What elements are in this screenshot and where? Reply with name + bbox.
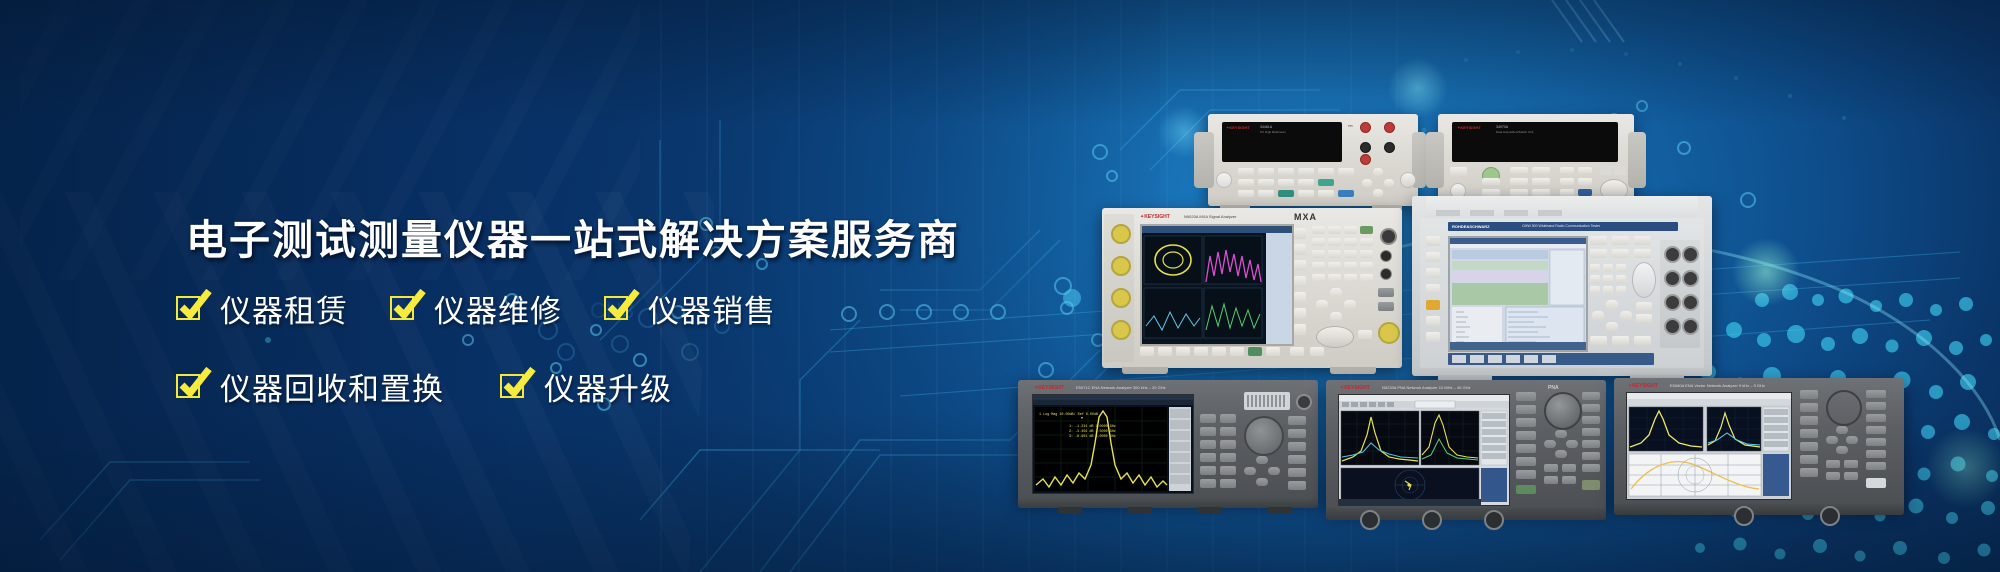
vna-center-screen xyxy=(1338,394,1510,506)
check-box-icon xyxy=(604,294,632,322)
check-box-icon xyxy=(176,372,204,400)
svg-text:1: -1.234 dB 1.0000 GHz: 1: -1.234 dB 1.0000 GHz xyxy=(1069,424,1116,429)
check-box-icon xyxy=(176,294,204,322)
instrument-power-supply: ✦KEYSIGHT 34970A Data Acquisition/Switch… xyxy=(1438,114,1634,206)
copy-block: 电子测试测量仪器一站式解决方案服务商 仪器租赁 仪器维修 xyxy=(0,0,1000,572)
service-label: 仪器回收和置换 xyxy=(220,364,444,409)
service-label: 仪器维修 xyxy=(434,286,562,331)
radio-tester-screen xyxy=(1448,236,1588,352)
service-label: 仪器升级 xyxy=(544,364,672,409)
service-label: 仪器租赁 xyxy=(220,286,348,331)
service-item-recycle-exchange[interactable]: 仪器回收和置换 xyxy=(176,364,444,409)
instrument-vna-right: ✦KEYSIGHT E5080A ENA Vector Network Anal… xyxy=(1614,378,1904,506)
service-list: 仪器租赁 仪器维修 仪器销售 xyxy=(176,280,776,414)
svg-text:1 Log Mag 10.00dB/ Ref 0.00dB: 1 Log Mag 10.00dB/ Ref 0.00dB xyxy=(1039,412,1098,417)
vna-right-screen xyxy=(1626,392,1792,500)
instrument-vna-center: ✦KEYSIGHT N5230A PNA Network Analyzer 10… xyxy=(1326,380,1606,510)
svg-text:2: -3.456 dB 2.5000 GHz: 2: -3.456 dB 2.5000 GHz xyxy=(1069,429,1116,434)
instrument-signal-analyzer: ✦KEYSIGHT N9020A MXA Signal Analyzer MXA xyxy=(1102,208,1402,368)
vna-left-screen: 1 Log Mag 10.00dB/ Ref 0.00dB ▼ 1: -1.23… xyxy=(1032,394,1194,494)
service-item-sales[interactable]: 仪器销售 xyxy=(604,286,776,331)
check-box-icon xyxy=(390,294,418,322)
promo-banner: CH3 xyxy=(0,0,2000,572)
page-title: 电子测试测量仪器一站式解决方案服务商 xyxy=(186,206,960,266)
signal-analyzer-screen xyxy=(1140,224,1294,346)
instrument-radio-tester: ROHDE&SCHWARZ CMW 500 Wideband Radio Com… xyxy=(1412,196,1712,376)
instrument-dmm-left: ✦KEYSIGHT 34461A 6½ Digit Multimeter ⎓ xyxy=(1208,114,1418,206)
service-row-2: 仪器回收和置换 仪器升级 xyxy=(176,358,776,414)
service-item-repair[interactable]: 仪器维修 xyxy=(390,286,562,331)
instrument-cluster: ✦KEYSIGHT 34461A 6½ Digit Multimeter ⎓ xyxy=(1040,96,1940,496)
service-label: 仪器销售 xyxy=(648,286,776,331)
service-row-1: 仪器租赁 仪器维修 仪器销售 xyxy=(176,280,776,336)
service-item-upgrade[interactable]: 仪器升级 xyxy=(500,364,672,409)
check-box-icon xyxy=(500,372,528,400)
svg-text:3: -8.901 dB 4.0000 GHz: 3: -8.901 dB 4.0000 GHz xyxy=(1069,434,1116,439)
instrument-vna-left: ✦KEYSIGHT E5071C ENA Network Analyzer 30… xyxy=(1018,380,1318,500)
service-item-rental[interactable]: 仪器租赁 xyxy=(176,286,348,331)
